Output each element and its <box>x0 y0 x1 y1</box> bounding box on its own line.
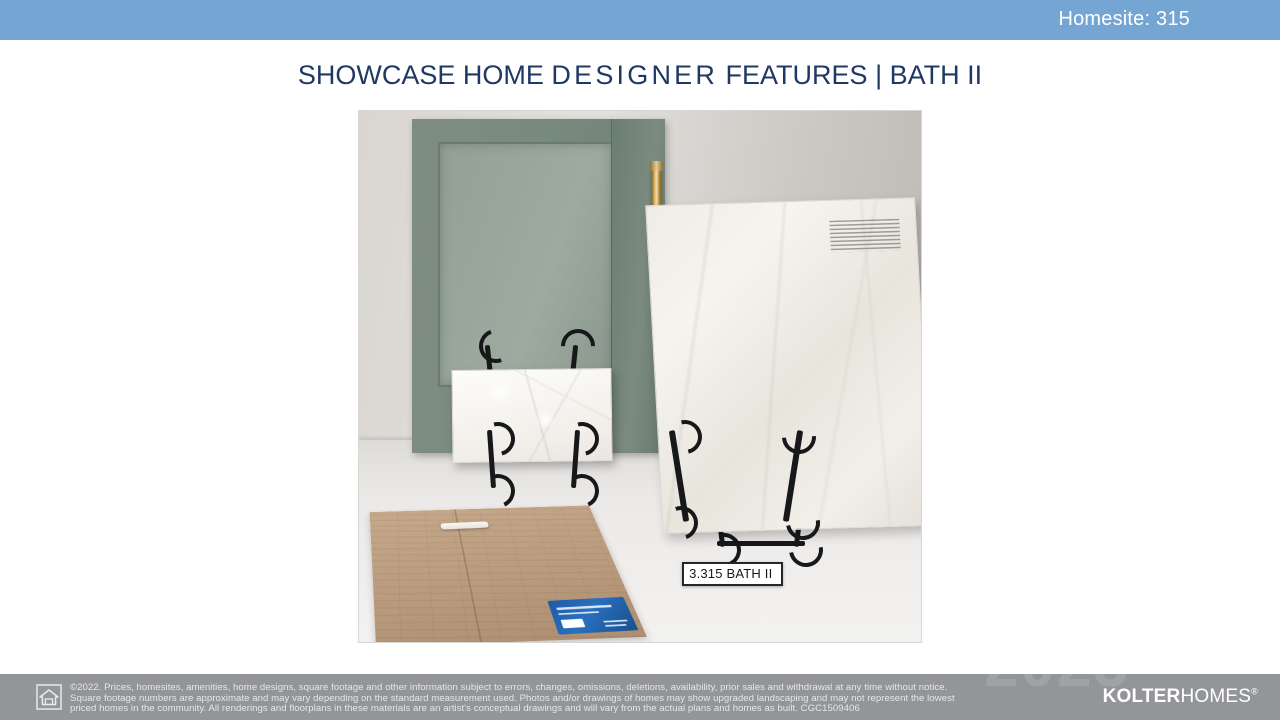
equal-housing-opportunity-icon <box>36 684 62 710</box>
disclaimer-line-1: ©2022. Prices, homesites, amenities, hom… <box>70 683 1080 694</box>
logo-homes: HOMES <box>1180 686 1251 707</box>
page-title-part1: SHOWCASE HOME <box>298 60 552 90</box>
page-title: SHOWCASE HOME DESIGNER FEATURES | BATH I… <box>0 60 1280 91</box>
design-board-photo: 3.315 BATH II <box>358 110 922 643</box>
page-title-designer: DESIGNER <box>551 60 718 90</box>
sample-placard: 3.315 BATH II <box>682 562 783 586</box>
kolter-homes-logo: KOLTERHOMES® <box>1103 686 1258 708</box>
quartz-easel-legs <box>477 430 617 500</box>
flooring-product-label <box>547 597 638 635</box>
quartz-highlight-2 <box>535 409 556 429</box>
logo-kolter: KOLTER <box>1103 686 1181 707</box>
tile-product-stamp <box>829 219 900 254</box>
logo-registered-mark: ® <box>1251 687 1258 697</box>
header-bar: Homesite: 315 <box>0 0 1280 40</box>
quartz-highlight-1 <box>487 381 513 405</box>
homesite-label: Homesite: 315 <box>1058 8 1190 31</box>
footer-disclaimer: ©2022. Prices, homesites, amenities, hom… <box>70 683 1080 715</box>
tile-easel-legs <box>662 430 832 540</box>
disclaimer-line-3: priced homes in the community. All rende… <box>70 704 1080 715</box>
page-title-part3: FEATURES | BATH II <box>718 60 982 90</box>
